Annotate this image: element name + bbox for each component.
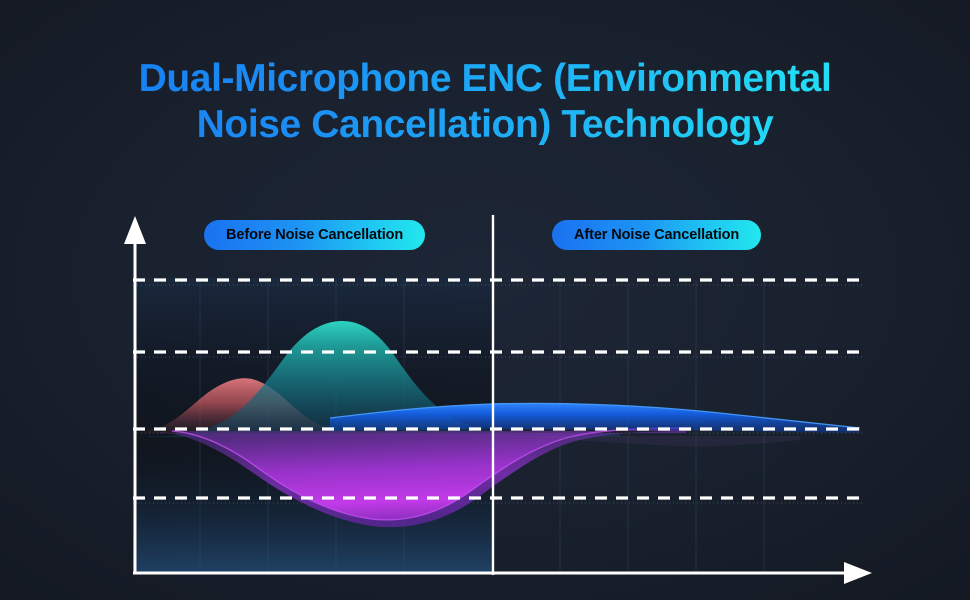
x-axis-arrow-icon [844, 562, 872, 584]
badge-before-noise-cancellation[interactable]: Before Noise Cancellation [204, 220, 425, 250]
y-axis-arrow-icon [124, 216, 146, 244]
badge-after-noise-cancellation[interactable]: After Noise Cancellation [552, 220, 761, 250]
noise-cancellation-chart [0, 0, 970, 600]
infographic-root: Dual-Microphone ENC (Environmental Noise… [0, 0, 970, 600]
